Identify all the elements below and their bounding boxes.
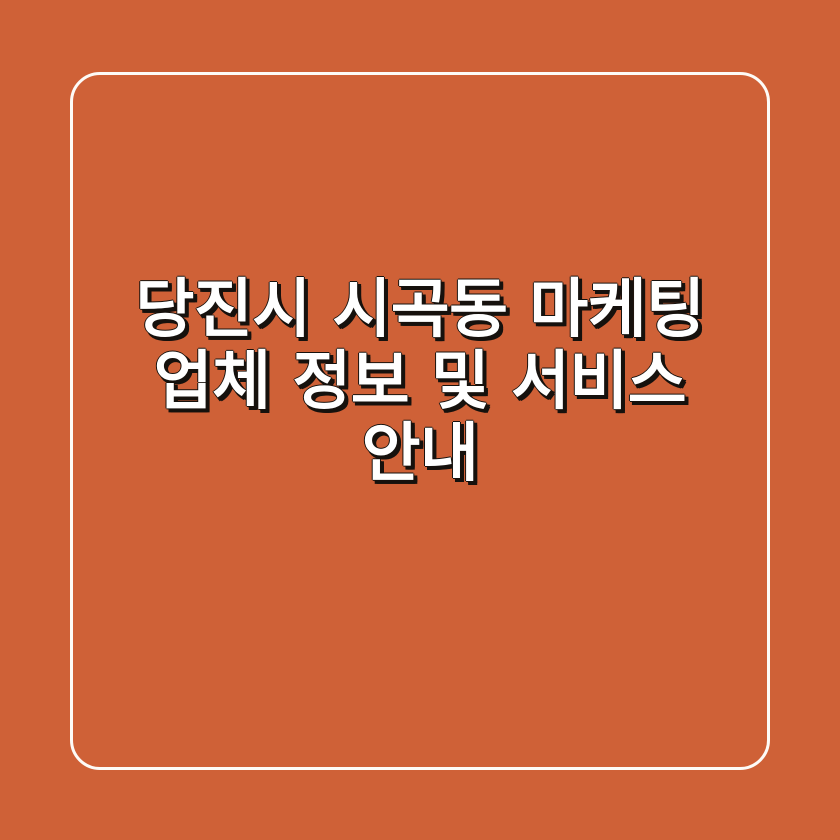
title-line-2: 업체 정보 및 서비스 [94, 346, 746, 418]
thumbnail-canvas: 당진시 시곡동 마케팅 업체 정보 및 서비스 안내 [0, 0, 840, 840]
title-line-1: 당진시 시곡동 마케팅 [94, 274, 746, 346]
title-block: 당진시 시곡동 마케팅 업체 정보 및 서비스 안내 [70, 72, 770, 770]
title-line-3: 안내 [94, 418, 746, 490]
